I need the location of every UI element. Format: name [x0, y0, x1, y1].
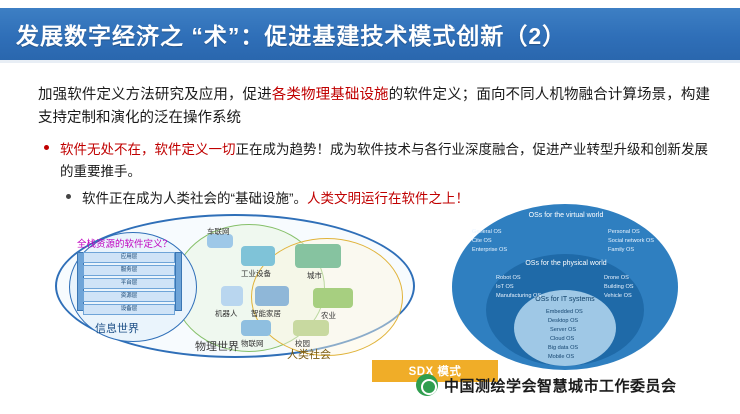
middle-right-item: Building OS	[604, 283, 634, 291]
slide-title-bar: 发展数字经济之 “术”：促进基建技术模式创新（2）	[0, 8, 740, 60]
outer-right-item: Family OS	[608, 246, 634, 254]
left-diagram: 全栈资源的软件定义？ 应用层 服务层 平台层 资源层 设备层 车联网 工业设备 …	[55, 212, 415, 362]
magenta-caption: 全栈资源的软件定义？	[77, 236, 172, 250]
page-title: 发展数字经济之 “术”：促进基建技术模式创新（2）	[0, 17, 566, 51]
figure-area: 全栈资源的软件定义？ 应用层 服务层 平台层 资源层 设备层 车联网 工业设备 …	[0, 200, 740, 396]
middle-left-item: Robot OS	[496, 274, 521, 282]
scene-tag-robot: 机器人	[215, 308, 238, 319]
footer-strip	[0, 404, 740, 414]
inner-item: Mobile OS	[548, 353, 574, 361]
scene-blob-iot	[241, 320, 271, 336]
scene-tag-iot: 物联网	[241, 338, 264, 349]
organization-watermark: 中国测绘学会智慧城市工作委员会	[416, 374, 677, 396]
scene-blob-city	[295, 244, 341, 268]
scene-tag-agriculture: 农业	[321, 310, 336, 321]
outer-left-item: Cite OS	[472, 237, 492, 245]
bullet-dot-icon	[66, 194, 71, 199]
paragraph-highlight: 各类物理基础设施	[272, 87, 389, 103]
scene-blob-robot	[221, 286, 243, 306]
scene-blob-agriculture	[313, 288, 353, 308]
bullet1-segment1: 软件无处不在，软件定义一切	[60, 142, 236, 157]
paragraph-part1: 加强软件定义方法研究及应用，促进	[38, 87, 272, 103]
stack-right-bar	[175, 252, 182, 311]
stack-row: 服务层	[83, 265, 175, 276]
body-paragraph: 加强软件定义方法研究及应用，促进各类物理基础设施的软件定义；面向不同人机物融合计…	[38, 84, 710, 131]
slide-body: 加强软件定义方法研究及应用，促进各类物理基础设施的软件定义；面向不同人机物融合计…	[38, 84, 710, 210]
inner-item: Big data OS	[548, 344, 578, 352]
outer-left-item: Enterprise OS	[472, 246, 507, 254]
scene-tag-car: 车联网	[207, 226, 230, 237]
inner-item: Cloud OS	[550, 335, 574, 343]
scene-blob-factory	[241, 246, 275, 266]
organization-logo-icon	[416, 374, 438, 396]
inner-item: Desktop OS	[548, 317, 578, 325]
label-information-world: 信息世界	[95, 320, 139, 336]
outer-right-item: Personal OS	[608, 228, 640, 236]
outer-right-item: Social network OS	[608, 237, 654, 245]
middle-right-item: Drone OS	[604, 274, 629, 282]
inner-item: Embedded OS	[546, 308, 583, 316]
scene-tag-industry: 工业设备	[241, 268, 271, 279]
stack-row: 应用层	[83, 252, 175, 263]
scene-blob-smarthome	[255, 286, 289, 306]
middle-left-item: IoT OS	[496, 283, 514, 291]
organization-name: 中国测绘学会智慧城市工作委员会	[444, 375, 677, 396]
outer-circle-label: OSs for the virtual world	[510, 212, 622, 219]
middle-right-item: Vehicle OS	[604, 292, 632, 300]
inner-item: Server OS	[550, 326, 576, 334]
bullet-level1: 软件无处不在，软件定义一切正在成为趋势！成为软件技术与各行业深度融合，促进产业转…	[38, 139, 710, 182]
slide-root: 发展数字经济之 “术”：促进基建技术模式创新（2） 加强软件定义方法研究及应用，…	[0, 0, 740, 414]
scene-tag-smarthome: 智能家居	[251, 308, 281, 319]
label-human-society: 人类社会	[287, 346, 331, 362]
stack-row: 设备层	[83, 304, 175, 315]
title-underline	[0, 60, 740, 63]
stack-row: 资源层	[83, 291, 175, 302]
middle-left-item: Manufacturing OS	[496, 292, 541, 300]
right-diagram: OSs for the virtual world OSs for the ph…	[452, 204, 678, 372]
bullet-dot-icon	[44, 145, 49, 150]
stack-row: 平台层	[83, 278, 175, 289]
middle-circle-label: OSs for the physical world	[510, 260, 622, 267]
scene-blob-campus	[293, 320, 329, 336]
label-physical-world: 物理世界	[195, 338, 239, 354]
outer-left-item: General OS	[472, 228, 502, 236]
scene-tag-city: 城市	[307, 270, 322, 281]
stack-box: 应用层 服务层 平台层 资源层 设备层	[83, 252, 175, 317]
